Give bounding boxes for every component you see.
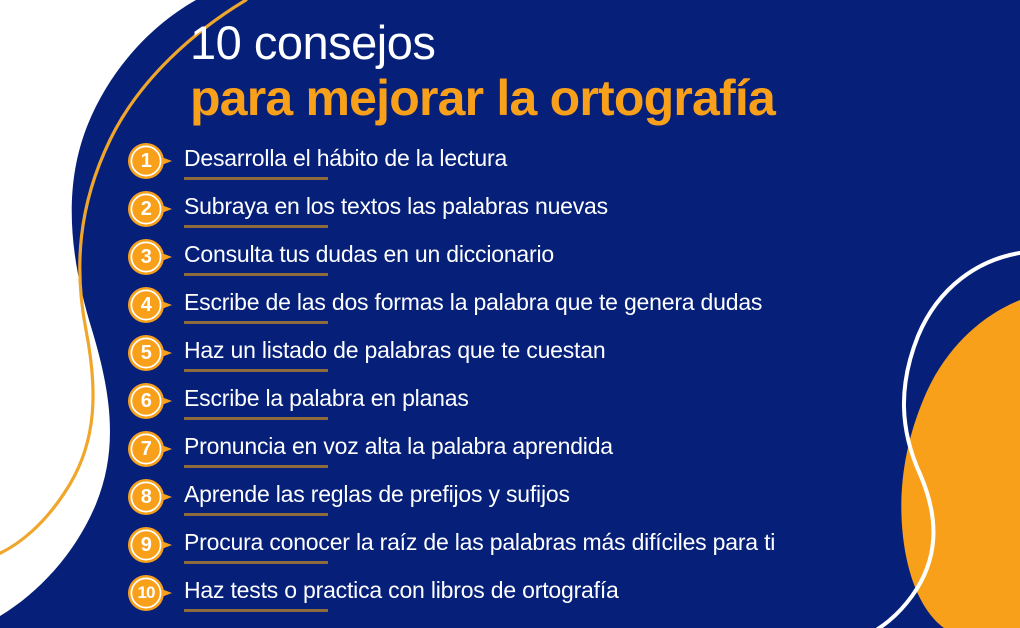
badge-shape-icon	[128, 431, 174, 467]
tip-text: Haz tests o practica con libros de ortog…	[184, 573, 619, 607]
poster-heading: 10 consejos para mejorar la ortografía	[190, 16, 1000, 128]
tip-number-badge: 6	[128, 383, 174, 419]
tip-divider	[184, 273, 328, 276]
tip-item-9: 9 Procura conocer la raíz de las palabra…	[128, 525, 1008, 573]
tip-number-badge: 8	[128, 479, 174, 515]
badge-shape-icon	[128, 191, 174, 227]
tip-text: Escribe la palabra en planas	[184, 381, 469, 415]
tip-number-badge: 7	[128, 431, 174, 467]
tip-number-badge: 4	[128, 287, 174, 323]
tip-number-badge: 9	[128, 527, 174, 563]
tip-text: Procura conocer la raíz de las palabras …	[184, 525, 775, 559]
tip-divider	[184, 561, 328, 564]
tip-item-10: 10 Haz tests o practica con libros de or…	[128, 573, 1008, 621]
badge-shape-icon	[128, 527, 174, 563]
tip-number-badge: 10	[128, 575, 174, 611]
tip-item-4: 4 Escribe de las dos formas la palabra q…	[128, 285, 1008, 333]
tips-list: 1 Desarrolla el hábito de la lectura 2 S…	[128, 141, 1008, 621]
tip-number-badge: 1	[128, 143, 174, 179]
poster-content: 10 consejos para mejorar la ortografía 1…	[0, 0, 1020, 628]
tip-divider	[184, 513, 328, 516]
tip-divider	[184, 225, 328, 228]
tip-item-8: 8 Aprende las reglas de prefijos y sufij…	[128, 477, 1008, 525]
badge-shape-icon	[128, 575, 174, 611]
tip-text: Pronuncia en voz alta la palabra aprendi…	[184, 429, 613, 463]
tip-item-2: 2 Subraya en los textos las palabras nue…	[128, 189, 1008, 237]
badge-shape-icon	[128, 287, 174, 323]
tip-item-1: 1 Desarrolla el hábito de la lectura	[128, 141, 1008, 189]
badge-shape-icon	[128, 143, 174, 179]
tip-text: Desarrolla el hábito de la lectura	[184, 141, 507, 175]
tip-item-3: 3 Consulta tus dudas en un diccionario	[128, 237, 1008, 285]
tip-divider	[184, 321, 328, 324]
tip-item-7: 7 Pronuncia en voz alta la palabra apren…	[128, 429, 1008, 477]
tip-text: Consulta tus dudas en un diccionario	[184, 237, 554, 271]
badge-shape-icon	[128, 479, 174, 515]
tip-item-6: 6 Escribe la palabra en planas	[128, 381, 1008, 429]
tip-text: Subraya en los textos las palabras nueva…	[184, 189, 608, 223]
tip-number-badge: 5	[128, 335, 174, 371]
tip-divider	[184, 177, 328, 180]
tip-number-badge: 2	[128, 191, 174, 227]
tip-text: Escribe de las dos formas la palabra que…	[184, 285, 762, 319]
tip-divider	[184, 609, 328, 612]
badge-shape-icon	[128, 335, 174, 371]
infographic-poster: 10 consejos para mejorar la ortografía 1…	[0, 0, 1020, 628]
tip-text: Aprende las reglas de prefijos y sufijos	[184, 477, 570, 511]
tip-divider	[184, 465, 328, 468]
tip-number-badge: 3	[128, 239, 174, 275]
badge-shape-icon	[128, 383, 174, 419]
tip-item-5: 5 Haz un listado de palabras que te cues…	[128, 333, 1008, 381]
heading-line-2: para mejorar la ortografía	[190, 68, 1000, 128]
badge-shape-icon	[128, 239, 174, 275]
heading-line-1: 10 consejos	[190, 16, 1000, 70]
tip-divider	[184, 417, 328, 420]
tip-text: Haz un listado de palabras que te cuesta…	[184, 333, 605, 367]
tip-divider	[184, 369, 328, 372]
